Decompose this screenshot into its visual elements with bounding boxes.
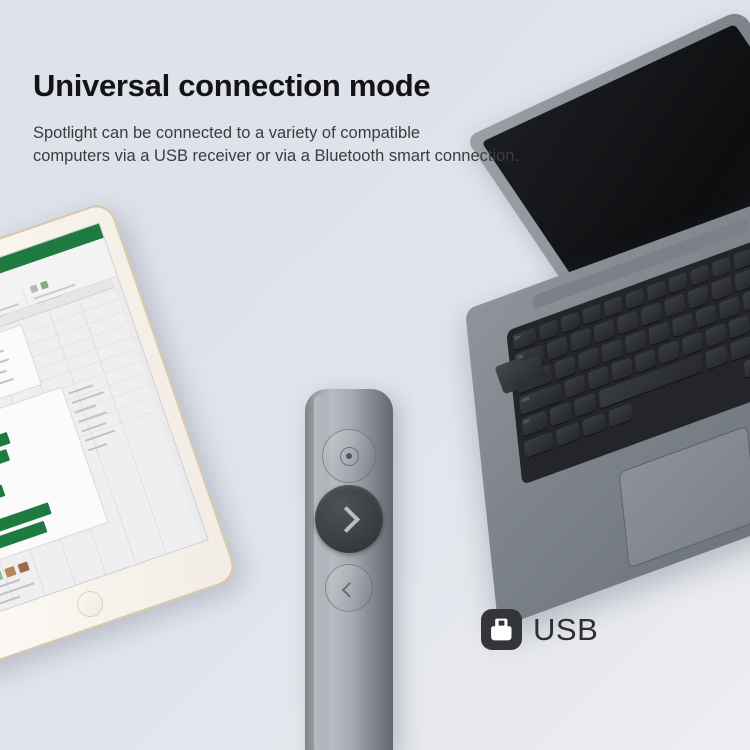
spotlight-presenter-remote [305, 389, 393, 750]
product-marketing-image: Esc Tab [0, 0, 750, 750]
laptop-trackpad[interactable] [619, 425, 750, 568]
chevron-left-icon [341, 582, 357, 598]
spreadsheet-scrollbar[interactable] [111, 277, 207, 542]
target-dot-icon [340, 447, 359, 466]
spotlight-button[interactable] [322, 429, 376, 483]
usb-flash-drive-icon [481, 609, 522, 650]
chevron-right-icon [333, 506, 360, 533]
next-slide-button[interactable] [315, 485, 383, 553]
description-line-1: Spotlight can be connected to a variety … [33, 122, 519, 145]
previous-slide-button[interactable] [325, 564, 373, 612]
tablet-device [0, 200, 239, 676]
page-description: Spotlight can be connected to a variety … [33, 122, 519, 168]
usb-badge: USB [481, 609, 598, 650]
description-line-2: computers via a USB receiver or via a Bl… [33, 145, 519, 168]
page-title: Universal connection mode [33, 68, 430, 104]
usb-label: USB [533, 614, 598, 645]
